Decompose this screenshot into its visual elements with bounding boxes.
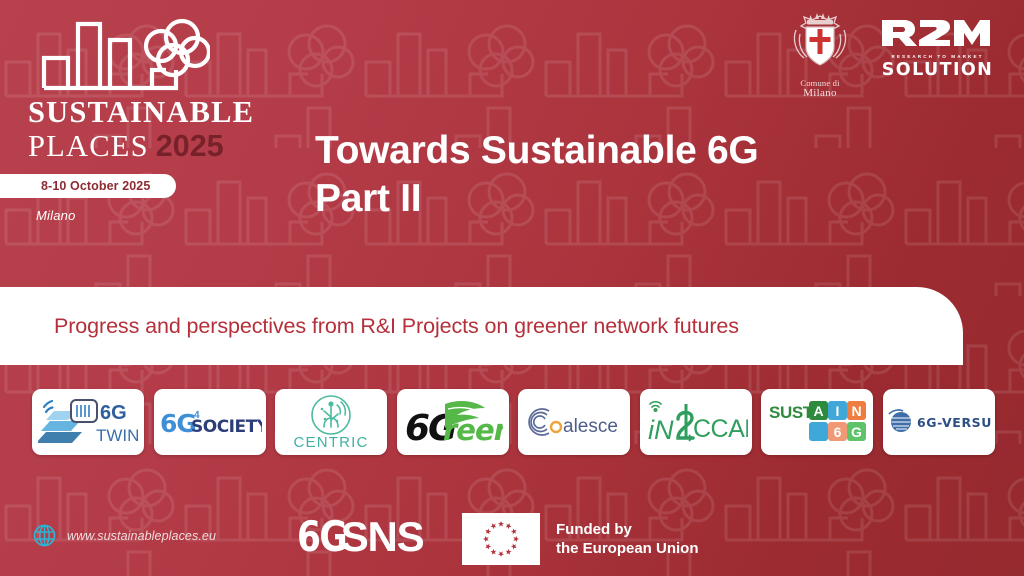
svg-text:CCAM: CCAM <box>693 415 748 443</box>
r2m-wordmark-icon <box>880 18 995 48</box>
buildings-and-tree-icon <box>40 18 210 94</box>
eu-flag-icon <box>462 513 540 565</box>
project-logo-sustain6g[interactable]: SUST AIN 6G <box>761 389 873 455</box>
website-url: www.sustainableplaces.eu <box>67 529 216 543</box>
project-logo-6g4society[interactable]: 6G 4 SOCIETY <box>154 389 266 455</box>
svg-text:iN: iN <box>648 415 674 445</box>
in2ccam-logo: iN CCAM <box>644 399 748 445</box>
svg-text:6G-VERSUS: 6G-VERSUS <box>917 415 991 430</box>
svg-text:G: G <box>851 424 862 440</box>
svg-text:6: 6 <box>834 424 842 440</box>
comune-di-milano-logo: Comune di Milano <box>780 10 860 99</box>
milano-crest-icon <box>783 10 857 72</box>
svg-text:TWIN: TWIN <box>96 426 138 445</box>
svg-text:CENTRIC: CENTRIC <box>293 434 368 451</box>
event-logo-line1: SUSTAINABLE <box>28 97 233 128</box>
svg-text:alesce: alesce <box>563 416 618 437</box>
footer: www.sustainableplaces.eu 6G SNS <box>0 500 1024 576</box>
event-logo-year: 2025 <box>156 129 224 164</box>
6ggreen-logo: 6G reen <box>403 398 503 446</box>
globe-icon <box>33 524 56 547</box>
presentation-slide: SUSTAINABLE PLACES 2025 8-10 October 202… <box>0 0 1024 576</box>
sns-logo-part2: SNS <box>341 513 424 561</box>
subtitle-text: Progress and perspectives from R&I Proje… <box>54 314 739 339</box>
eu-funding-line1: Funded by <box>556 520 699 539</box>
r2m-name: SOLUTION <box>880 60 995 80</box>
6g-sns-logo: 6G SNS <box>297 512 423 561</box>
6g4society-logo: 6G 4 SOCIETY <box>158 405 262 439</box>
sns-logo-part1: 6G <box>297 512 346 561</box>
eu-funding-line2: the European Union <box>556 539 699 558</box>
r2m-solution-logo: RESEARCH TO MARKET SOLUTION <box>880 18 995 80</box>
page-title: Towards Sustainable 6G Part II <box>315 127 915 222</box>
6g-versus-logo: 6G-VERSUS <box>887 408 991 436</box>
event-city: Milano <box>36 208 233 223</box>
subtitle-band: Progress and perspectives from R&I Proje… <box>0 287 963 365</box>
sustain6g-logo: SUST AIN 6G <box>767 396 867 448</box>
project-logo-strip: 6G TWIN 6G 4 SOCIETY <box>32 389 995 455</box>
website-link[interactable]: www.sustainableplaces.eu <box>33 524 216 547</box>
r2m-tagline: RESEARCH TO MARKET <box>880 54 995 59</box>
project-logo-6g-versus[interactable]: 6G-VERSUS <box>883 389 995 455</box>
svg-text:6G: 6G <box>100 402 127 424</box>
project-logo-in2ccam[interactable]: iN CCAM <box>640 389 752 455</box>
title-line1: Towards Sustainable 6G <box>315 127 915 175</box>
6g-twin-logo: 6G TWIN <box>38 395 138 449</box>
project-logo-6ggreen[interactable]: 6G reen <box>397 389 509 455</box>
coalesce-logo: alesce <box>523 403 625 441</box>
event-date-badge: 8-10 October 2025 <box>0 174 176 198</box>
eu-funding-badge: Funded by the European Union <box>462 513 699 565</box>
eu-funding-text: Funded by the European Union <box>556 520 699 558</box>
title-line2: Part II <box>315 175 915 223</box>
project-logo-6g-twin[interactable]: 6G TWIN <box>32 389 144 455</box>
svg-text:N: N <box>851 403 861 419</box>
centric-logo: CENTRIC <box>292 393 370 451</box>
project-logo-centric[interactable]: CENTRIC <box>275 389 387 455</box>
project-logo-coalesce[interactable]: alesce <box>518 389 630 455</box>
event-logo: SUSTAINABLE PLACES 2025 8-10 October 202… <box>28 18 233 223</box>
svg-text:A: A <box>813 403 823 419</box>
svg-text:SUST: SUST <box>769 403 814 422</box>
event-logo-line2-places: PLACES <box>28 131 149 162</box>
svg-text:SOCIETY: SOCIETY <box>191 417 262 437</box>
comune-label-line2: Milano <box>780 88 860 100</box>
svg-text:I: I <box>836 403 840 419</box>
